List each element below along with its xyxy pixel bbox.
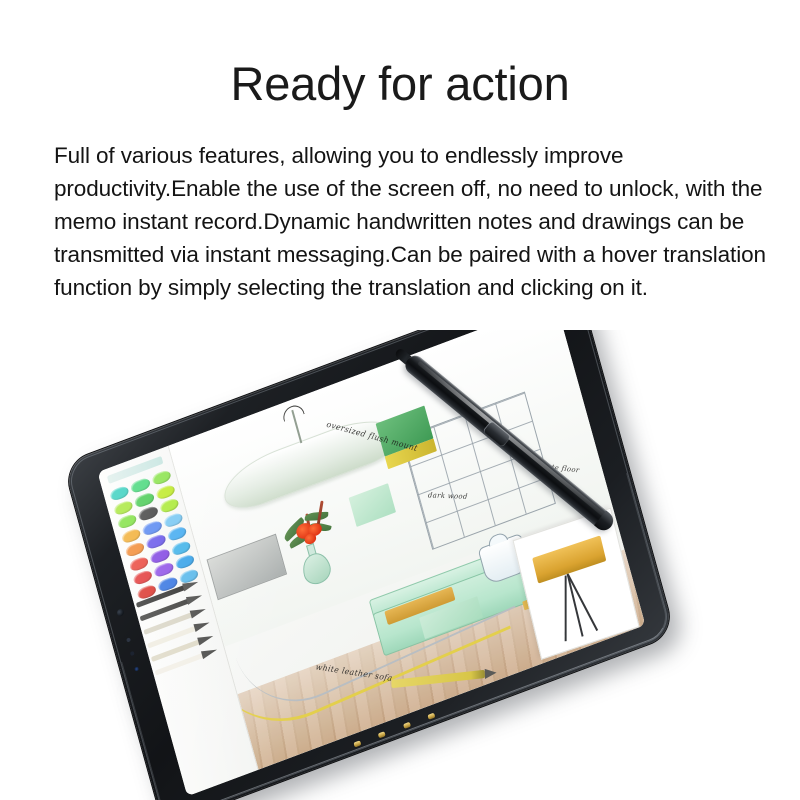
- product-feature-page: Ready for action Full of various feature…: [0, 0, 800, 800]
- tablet-device: oversized flush mount white leather sofa…: [63, 330, 675, 800]
- lamp-leg: [567, 574, 584, 637]
- handwritten-note: dark wood: [427, 490, 468, 502]
- color-swatch[interactable]: [125, 541, 146, 558]
- lamp-leg: [565, 575, 567, 641]
- color-swatch[interactable]: [155, 483, 176, 500]
- color-swatch[interactable]: [128, 555, 149, 572]
- color-swatch[interactable]: [174, 553, 195, 570]
- color-swatch[interactable]: [113, 499, 134, 516]
- color-swatch[interactable]: [109, 485, 130, 502]
- color-swatch[interactable]: [138, 505, 159, 522]
- color-swatch[interactable]: [159, 497, 180, 514]
- color-swatch[interactable]: [130, 477, 151, 494]
- color-swatch[interactable]: [117, 513, 138, 530]
- drawing-app: oversized flush mount white leather sofa…: [98, 330, 646, 796]
- page-title: Ready for action: [0, 58, 800, 110]
- color-swatch[interactable]: [121, 527, 142, 544]
- brush-tip-icon: [193, 619, 210, 632]
- brush-tip-icon: [197, 632, 214, 645]
- brush-tip-icon: [190, 605, 207, 618]
- tablet-screen[interactable]: oversized flush mount white leather sofa…: [98, 330, 646, 796]
- page-description: Full of various features, allowing you t…: [54, 139, 780, 304]
- color-swatch[interactable]: [166, 525, 187, 542]
- color-swatch[interactable]: [146, 533, 167, 550]
- color-swatch[interactable]: [153, 561, 174, 578]
- color-swatch[interactable]: [132, 569, 153, 586]
- color-swatch[interactable]: [151, 469, 172, 486]
- brush-tip-icon: [201, 646, 218, 659]
- lamp-leg: [567, 574, 598, 631]
- color-swatch[interactable]: [163, 511, 184, 528]
- hero-product-image: oversized flush mount white leather sofa…: [0, 330, 800, 800]
- brush-tip-icon: [186, 592, 203, 605]
- canvas-artwork[interactable]: oversized flush mount white leather sofa…: [169, 330, 646, 770]
